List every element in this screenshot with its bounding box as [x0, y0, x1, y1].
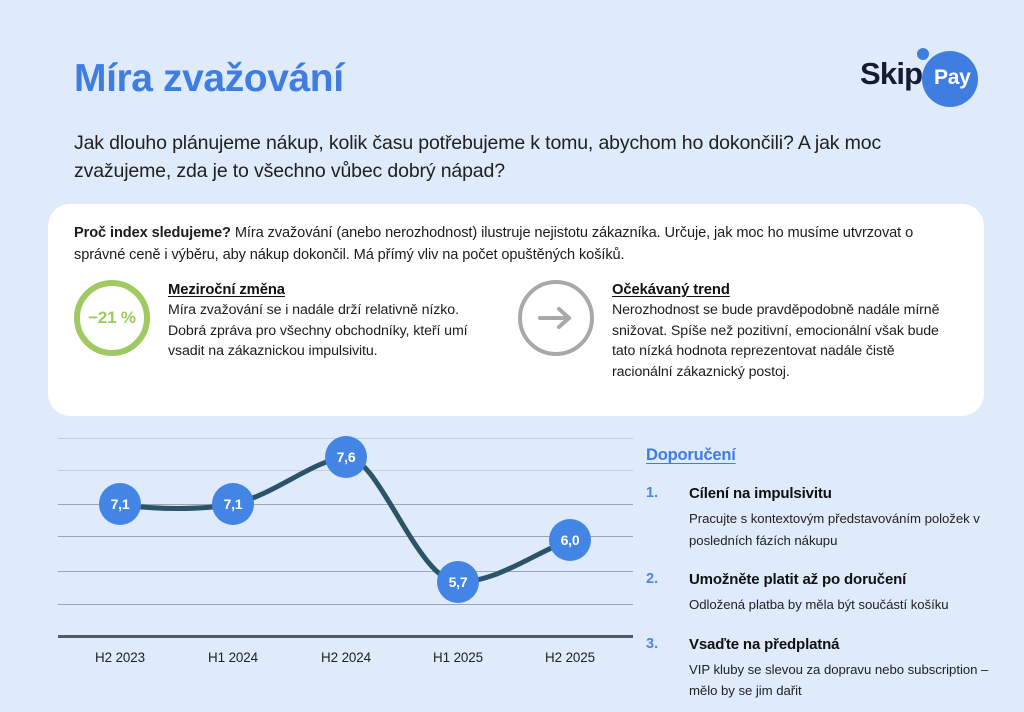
metric-expected-trend: Očekávaný trend Nerozhodnost se bude pra… [518, 280, 960, 382]
yoy-change-badge: −21 % [74, 280, 150, 356]
recommendation-number: 1. [646, 485, 658, 501]
metric-yoy-text: Meziroční změna Míra zvažování se i nadá… [168, 280, 478, 362]
chart-point-marker[interactable]: 7,1 [212, 483, 254, 525]
recommendation-item: 1. Cílení na impulsivitu Pracujte s kont… [646, 485, 996, 551]
skippay-logo: Skip Pay [860, 42, 984, 102]
recommendation-item: 3. Vsaďte na předplatná VIP kluby se sle… [646, 636, 996, 702]
metric-trend-text: Očekávaný trend Nerozhodnost se bude pra… [612, 280, 942, 382]
chart-x-label: H2 2025 [515, 650, 625, 665]
metric-trend-body: Nerozhodnost se bude pravděpodobně nadál… [612, 300, 942, 382]
info-card-intro: Proč index sledujeme? Míra zvažování (an… [74, 222, 960, 266]
chart-x-label: H1 2024 [178, 650, 288, 665]
logo-badge-label: Pay [934, 66, 970, 90]
metric-yoy-body: Míra zvažování se i nadále drží relativn… [168, 300, 478, 362]
chart-point-marker[interactable]: 7,1 [99, 483, 141, 525]
metric-trend-heading: Očekávaný trend [612, 282, 942, 298]
arrow-right-icon [518, 280, 594, 356]
metric-yoy-change: −21 % Meziroční změna Míra zvažování se … [74, 280, 504, 362]
recommendation-heading: Vsaďte na předplatná [689, 636, 996, 655]
chart-x-label: H2 2024 [291, 650, 401, 665]
recommendation-heading: Cílení na impulsivitu [689, 485, 996, 504]
chart-x-label: H1 2025 [403, 650, 513, 665]
chart-point-marker[interactable]: 5,7 [437, 561, 479, 603]
page-title: Míra zvažování [74, 58, 344, 101]
recommendations-panel: Doporučení 1. Cílení na impulsivitu Prac… [646, 446, 996, 702]
logo-wordmark: Skip [860, 56, 922, 92]
info-card: Proč index sledujeme? Míra zvažování (an… [48, 204, 984, 416]
recommendation-item: 2. Umožněte platit až po doručení Odlože… [646, 571, 996, 616]
chart-point-marker[interactable]: 6,0 [549, 519, 591, 561]
recommendation-body: Odložená platba by měla být součástí koš… [689, 594, 996, 616]
slide-root: Míra zvažování Jak dlouho plánujeme náku… [0, 0, 1024, 712]
recommendation-number: 2. [646, 571, 658, 587]
logo-dot-icon [917, 48, 929, 60]
recommendation-heading: Umožněte platit až po doručení [689, 571, 996, 590]
recommendations-title: Doporučení [646, 446, 996, 465]
chart-x-label: H2 2023 [65, 650, 175, 665]
page-subtitle: Jak dlouho plánujeme nákup, kolik času p… [74, 130, 884, 185]
chart-point-marker[interactable]: 7,6 [325, 436, 367, 478]
recommendation-number: 3. [646, 636, 658, 652]
recommendation-body: Pracujte s kontextovým představováním po… [689, 508, 996, 552]
info-card-intro-label: Proč index sledujeme? [74, 225, 231, 241]
recommendation-body: VIP kluby se slevou za dopravu nebo subs… [689, 659, 996, 703]
metric-yoy-heading: Meziroční změna [168, 282, 478, 298]
consideration-rate-chart: 7,1 7,1 7,6 5,7 6,0 H2 2023 H1 2024 H2 2… [58, 432, 633, 672]
